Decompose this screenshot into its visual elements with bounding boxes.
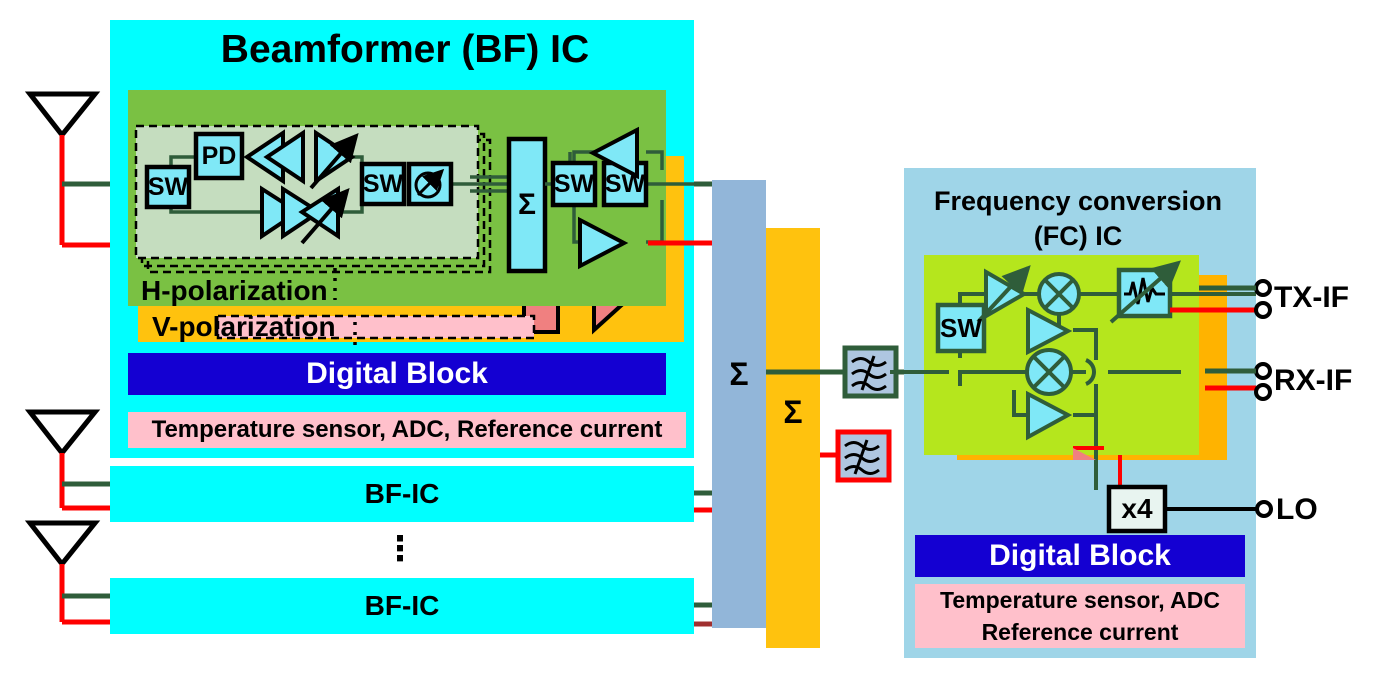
fc-digital-block: Digital Block xyxy=(915,535,1245,577)
diagram-canvas: Beamformer (BF) IC SW PD SW Σ SW SW H-po… xyxy=(0,0,1386,682)
fc-tunable-filter xyxy=(1111,263,1178,322)
combiner-h-bar xyxy=(712,180,766,628)
sw-mid-label: SW xyxy=(362,164,404,204)
fc-sw-label: SW xyxy=(938,305,984,351)
sw-out-2-label: SW xyxy=(604,163,646,205)
bf-rows-ellipsis: ⋮ xyxy=(370,528,430,572)
pd-label: PD xyxy=(196,134,242,178)
bf-sigma-label: Σ xyxy=(509,139,545,271)
mixer-rx xyxy=(1027,350,1071,394)
port-lo-label: LO xyxy=(1276,493,1318,527)
port-terminals xyxy=(1256,281,1271,516)
lo-multiplier-label: x4 xyxy=(1109,487,1165,531)
v-band-filter xyxy=(838,432,889,480)
combiner-v-bar xyxy=(766,228,820,648)
combiner-h-sigma-label: Σ xyxy=(712,352,766,396)
combiner-v-sigma-label: Σ xyxy=(766,390,820,434)
fc-sensor-line2: Reference current xyxy=(915,616,1245,648)
v-polarization-label: V-polarization xyxy=(152,311,336,343)
bf-sensor-row: Temperature sensor, ADC, Reference curre… xyxy=(128,412,686,448)
fc-ic-title-line2: (FC) IC xyxy=(928,219,1228,253)
h-band-filter xyxy=(845,348,896,396)
mixer-tx xyxy=(1039,274,1079,314)
phase-shifter-block xyxy=(409,164,451,204)
port-tx-if-label: TX-IF xyxy=(1274,281,1349,315)
sw-input-label: SW xyxy=(147,167,189,207)
port-rx-if-label: RX-IF xyxy=(1274,364,1352,398)
bf-digital-block: Digital Block xyxy=(128,353,666,395)
bf-row-2-label: BF-IC xyxy=(110,578,694,634)
bf-ic-title: Beamformer (BF) IC xyxy=(150,26,660,74)
fc-sensor-box: Temperature sensor, ADC Reference curren… xyxy=(915,584,1245,648)
sw-out-1-label: SW xyxy=(553,163,595,205)
h-polarization-label: H-polarization xyxy=(141,275,328,307)
fc-ic-title-line1: Frequency conversion xyxy=(928,184,1228,218)
bf-row-1-label: BF-IC xyxy=(110,466,694,522)
fc-sensor-line1: Temperature sensor, ADC xyxy=(915,584,1245,616)
